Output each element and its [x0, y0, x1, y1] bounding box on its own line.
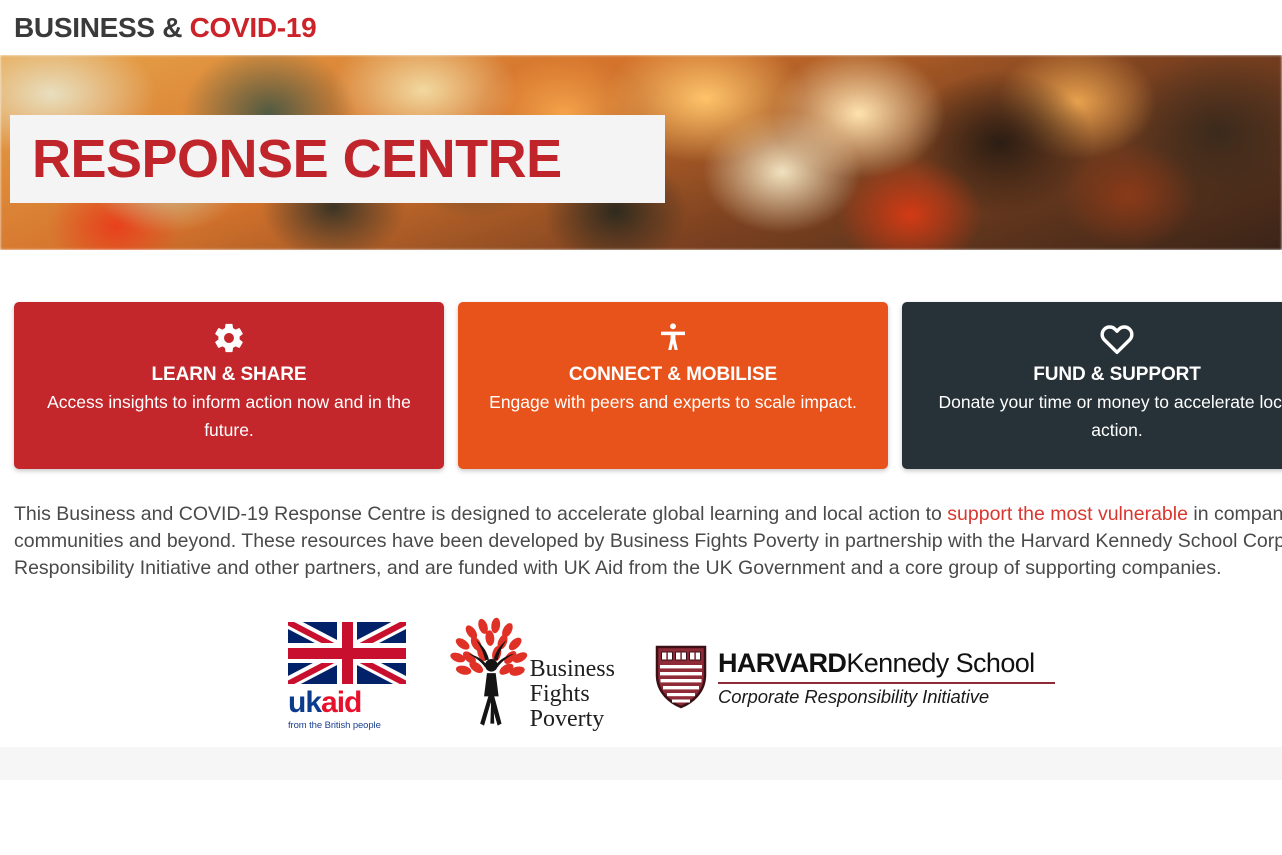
page-title-covid: COVID-19 — [190, 12, 317, 43]
uk-aid-word-aid: aid — [321, 686, 361, 719]
harvard-word: HARVARD — [718, 648, 846, 678]
card-description: Engage with peers and experts to scale i… — [468, 388, 878, 416]
footer-band — [0, 747, 1282, 780]
card-title: FUND & SUPPORT — [912, 362, 1282, 388]
intro-paragraph: This Business and COVID-19 Response Cent… — [14, 501, 1282, 582]
harvard-divider — [718, 682, 1055, 684]
gear-icon — [24, 318, 434, 358]
card-description: Access insights to inform action now and… — [24, 388, 434, 444]
hero-title-plate: RESPONSE CENTRE — [10, 115, 665, 203]
kennedy-school-word: Kennedy School — [846, 648, 1034, 678]
page-title-business: BUSINESS & — [14, 12, 190, 43]
card-description: Donate your time or money to accelerate … — [912, 388, 1282, 444]
card-title: LEARN & SHARE — [24, 362, 434, 388]
uk-aid-tagline: from the British people — [288, 720, 410, 732]
business-fights-poverty-logo[interactable]: Business Fights Poverty — [450, 617, 615, 737]
page-header: BUSINESS & COVID-19 — [0, 0, 1282, 55]
card-fund-and-support[interactable]: FUND & SUPPORT Donate your time or money… — [902, 302, 1282, 469]
harvard-name-line: HARVARDKennedy School — [718, 648, 1055, 679]
harvard-subtitle: Corporate Responsibility Initiative — [718, 686, 1055, 708]
bfp-line-3: Poverty — [530, 707, 615, 732]
union-jack-flag-icon — [288, 622, 406, 684]
support-vulnerable-link[interactable]: support the most vulnerable — [947, 503, 1188, 525]
action-cards-row: LEARN & SHARE Access insights to inform … — [14, 302, 1282, 469]
bfp-line-1: Business — [530, 657, 615, 682]
bfp-line-2: Fights — [530, 682, 615, 707]
page-title: BUSINESS & COVID-19 — [14, 12, 1282, 44]
partner-logos-row: ukaid from the British people — [0, 607, 1282, 747]
harvard-wordmark: HARVARDKennedy School Corporate Responsi… — [718, 646, 1055, 708]
red-leaf-tree-icon — [450, 617, 534, 735]
harvard-kennedy-school-logo[interactable]: HARVARDKennedy School Corporate Responsi… — [655, 645, 1055, 709]
intro-text-part1: This Business and COVID-19 Response Cent… — [14, 503, 947, 525]
business-fights-poverty-wordmark: Business Fights Poverty — [530, 657, 615, 732]
heart-icon — [912, 318, 1282, 358]
card-learn-and-share[interactable]: LEARN & SHARE Access insights to inform … — [14, 302, 444, 469]
intro-section: This Business and COVID-19 Response Cent… — [0, 485, 1282, 607]
uk-aid-word-uk: uk — [288, 686, 321, 719]
hero-banner: RESPONSE CENTRE — [0, 55, 1282, 250]
uk-aid-logo[interactable]: ukaid from the British people — [288, 622, 410, 732]
harvard-shield-icon — [655, 645, 707, 709]
hero-title: RESPONSE CENTRE — [32, 130, 562, 188]
accessibility-person-icon — [468, 318, 878, 358]
card-connect-and-mobilise[interactable]: CONNECT & MOBILISE Engage with peers and… — [458, 302, 888, 469]
uk-aid-wordmark: ukaid — [288, 687, 410, 719]
action-cards-section: LEARN & SHARE Access insights to inform … — [0, 250, 1282, 485]
card-title: CONNECT & MOBILISE — [468, 362, 878, 388]
